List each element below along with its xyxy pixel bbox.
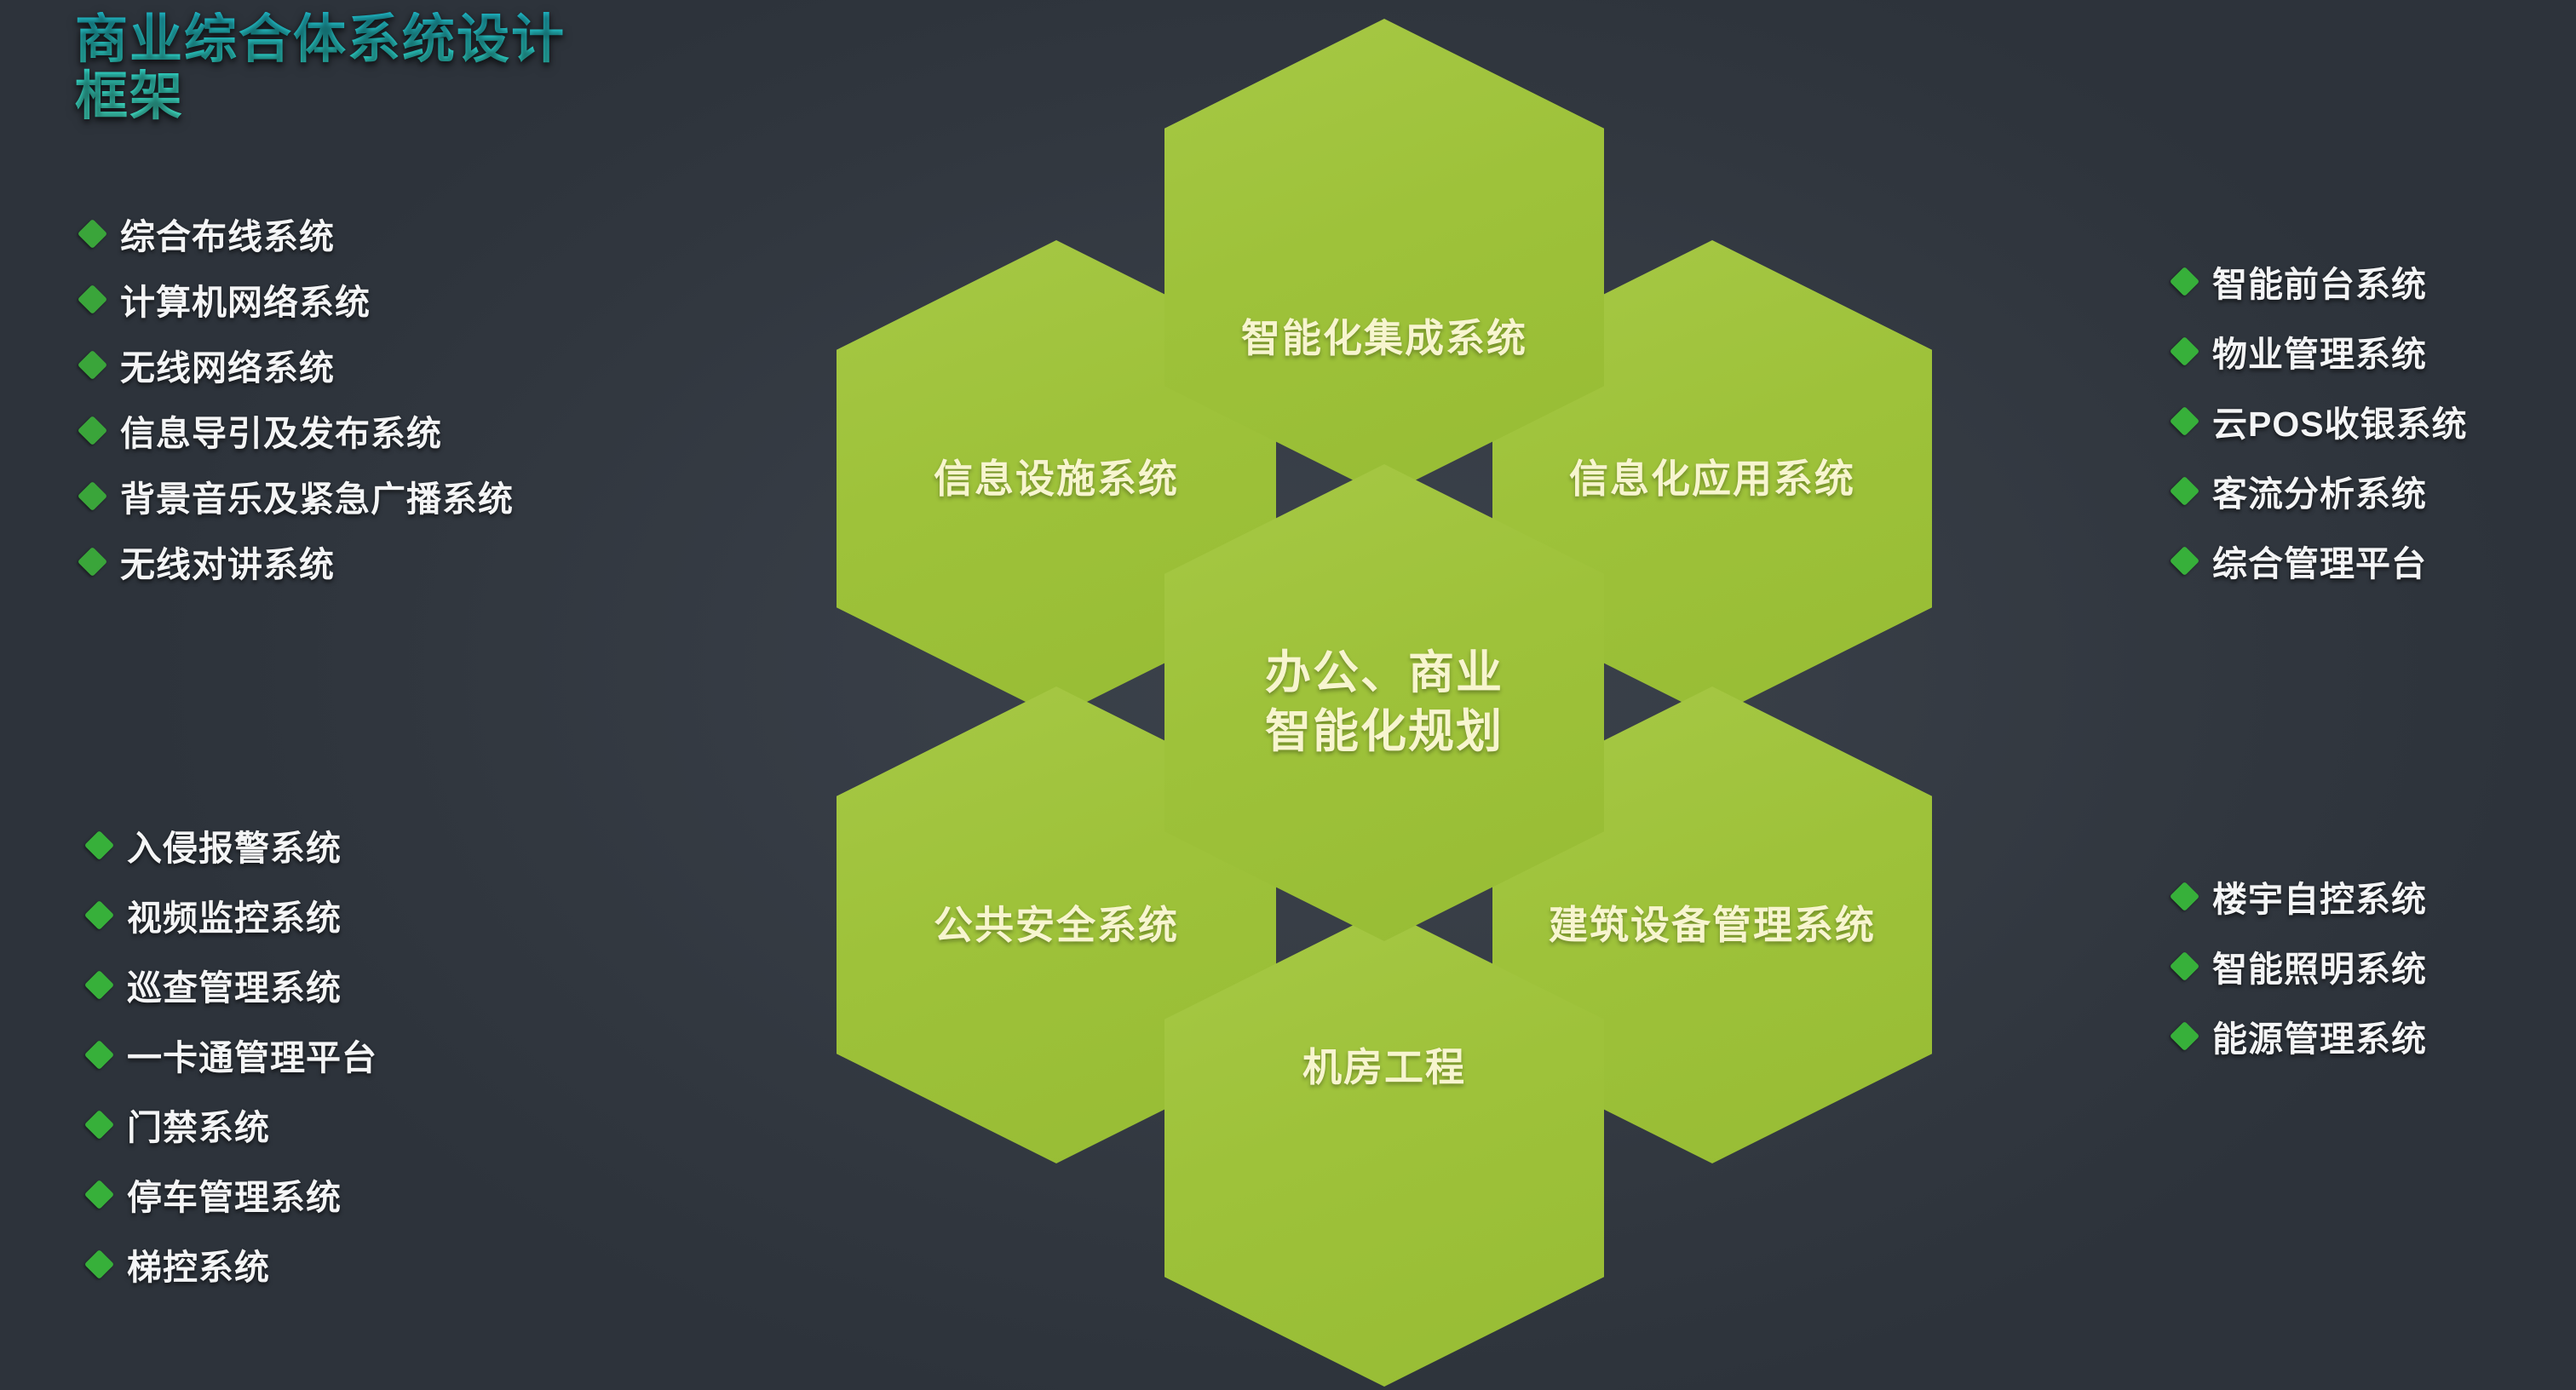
list-item[interactable]: 无线网络系统 xyxy=(82,339,514,390)
list-item-label: 综合管理平台 xyxy=(2212,535,2427,586)
list-item-label: 视频监控系统 xyxy=(127,889,342,940)
green-diamond-icon xyxy=(84,969,114,999)
green-diamond-icon xyxy=(2170,881,2199,910)
page-title: 商业综合体系统设计 框架 xyxy=(75,12,722,126)
green-diamond-icon xyxy=(84,1249,114,1278)
list-item[interactable]: 入侵报警系统 xyxy=(89,819,377,870)
green-diamond-icon xyxy=(84,1109,114,1139)
hexagon-label: 建筑设备管理系统 xyxy=(1549,900,1876,951)
list-item-label: 智能前台系统 xyxy=(2212,256,2427,307)
list-item[interactable]: 物业管理系统 xyxy=(2174,325,2468,376)
list-item[interactable]: 背景音乐及紧急广播系统 xyxy=(82,470,514,521)
green-diamond-icon xyxy=(84,1179,114,1209)
hexagon-label: 机房工程 xyxy=(1302,1042,1466,1093)
hexagon-center-line-1: 办公、商业 xyxy=(1265,647,1504,698)
green-diamond-icon xyxy=(2170,545,2199,575)
hexagon-center-label: 办公、商业 智能化规划 xyxy=(1265,644,1504,761)
list-item[interactable]: 云POS收银系统 xyxy=(2174,395,2468,446)
list-item[interactable]: 视频监控系统 xyxy=(89,889,377,940)
list-item[interactable]: 综合布线系统 xyxy=(82,208,514,259)
hexagon-label: 信息设施系统 xyxy=(934,454,1179,504)
green-diamond-icon xyxy=(84,830,114,859)
green-diamond-icon xyxy=(84,1039,114,1069)
list-item-label: 入侵报警系统 xyxy=(127,819,342,870)
green-diamond-icon xyxy=(78,546,107,576)
list-item[interactable]: 信息导引及发布系统 xyxy=(82,405,514,456)
list-top-right: 智能前台系统 物业管理系统 云POS收银系统 客流分析系统 综合管理平台 xyxy=(2174,256,2468,605)
list-top-left: 综合布线系统 计算机网络系统 无线网络系统 信息导引及发布系统 背景音乐及紧急广… xyxy=(82,208,514,601)
green-diamond-icon xyxy=(84,899,114,929)
list-item[interactable]: 综合管理平台 xyxy=(2174,535,2468,586)
list-item[interactable]: 门禁系统 xyxy=(89,1099,377,1150)
list-item-label: 计算机网络系统 xyxy=(120,273,371,325)
list-bottom-right: 楼宇自控系统 智能照明系统 能源管理系统 xyxy=(2174,870,2427,1080)
list-item-label: 能源管理系统 xyxy=(2212,1010,2427,1061)
hexagon-label: 智能化集成系统 xyxy=(1241,313,1527,364)
green-diamond-icon xyxy=(78,218,107,248)
list-item-label: 梯控系统 xyxy=(127,1238,270,1289)
list-item[interactable]: 巡查管理系统 xyxy=(89,959,377,1010)
slide-canvas: 商业综合体系统设计 框架 综合布线系统 计算机网络系统 无线网络系统 信息导引及… xyxy=(0,0,2576,1390)
list-item-label: 一卡通管理平台 xyxy=(127,1029,377,1080)
list-item[interactable]: 楼宇自控系统 xyxy=(2174,870,2427,922)
page-title-line-1: 商业综合体系统设计 xyxy=(75,12,722,69)
green-diamond-icon xyxy=(78,349,107,379)
list-item-label: 客流分析系统 xyxy=(2212,465,2427,516)
green-diamond-icon xyxy=(2170,475,2199,505)
green-diamond-icon xyxy=(2170,266,2199,296)
list-item-label: 综合布线系统 xyxy=(120,208,335,259)
list-item[interactable]: 无线对讲系统 xyxy=(82,536,514,587)
list-item[interactable]: 计算机网络系统 xyxy=(82,273,514,325)
page-title-line-2: 框架 xyxy=(75,69,722,126)
hexagon-cluster: 信息设施系统 信息化应用系统 公共安全系统 建筑设备管理系统 智能化集成系统 机… xyxy=(733,0,2096,1390)
list-item[interactable]: 梯控系统 xyxy=(89,1238,377,1289)
list-item[interactable]: 一卡通管理平台 xyxy=(89,1029,377,1080)
list-item[interactable]: 客流分析系统 xyxy=(2174,465,2468,516)
list-item[interactable]: 智能前台系统 xyxy=(2174,256,2468,307)
list-item[interactable]: 智能照明系统 xyxy=(2174,940,2427,991)
list-item-label: 背景音乐及紧急广播系统 xyxy=(120,470,514,521)
green-diamond-icon xyxy=(78,480,107,510)
list-item-label: 智能照明系统 xyxy=(2212,940,2427,991)
list-item-label: 无线网络系统 xyxy=(120,339,335,390)
list-item-label: 巡查管理系统 xyxy=(127,959,342,1010)
list-bottom-left: 入侵报警系统 视频监控系统 巡查管理系统 一卡通管理平台 门禁系统 停车管理系统… xyxy=(89,819,377,1308)
hexagon-label: 信息化应用系统 xyxy=(1569,454,1855,504)
list-item-label: 信息导引及发布系统 xyxy=(120,405,442,456)
green-diamond-icon xyxy=(2170,336,2199,365)
hexagon-label: 公共安全系统 xyxy=(934,900,1179,951)
green-diamond-icon xyxy=(2170,1020,2199,1050)
list-item-label: 门禁系统 xyxy=(127,1099,270,1150)
list-item-label: 物业管理系统 xyxy=(2212,325,2427,376)
list-item-label: 无线对讲系统 xyxy=(120,536,335,587)
green-diamond-icon xyxy=(2170,951,2199,980)
list-item-label: 云POS收银系统 xyxy=(2212,395,2468,446)
list-item-label: 楼宇自控系统 xyxy=(2212,870,2427,922)
green-diamond-icon xyxy=(2170,405,2199,435)
list-item[interactable]: 停车管理系统 xyxy=(89,1169,377,1220)
green-diamond-icon xyxy=(78,284,107,313)
green-diamond-icon xyxy=(78,415,107,445)
list-item-label: 停车管理系统 xyxy=(127,1169,342,1220)
hexagon-center-line-2: 智能化规划 xyxy=(1265,706,1504,757)
list-item[interactable]: 能源管理系统 xyxy=(2174,1010,2427,1061)
